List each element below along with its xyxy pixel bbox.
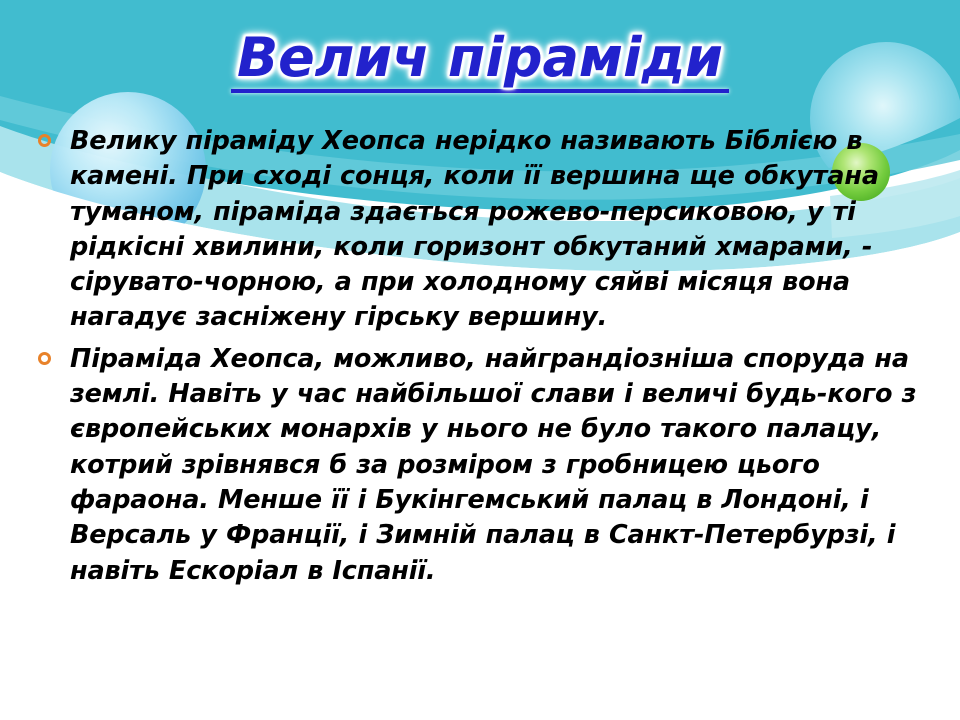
- list-item: Велику піраміду Хеопса нерідко називають…: [30, 124, 935, 336]
- list-item: Піраміда Хеопса, можливо, найграндіозніш…: [30, 342, 935, 589]
- presentation-slide: Велич піраміди Велику піраміду Хеопса не…: [0, 0, 960, 720]
- slide-body-content: Велику піраміду Хеопса нерідко називають…: [30, 124, 935, 595]
- slide-title-block: Велич піраміди: [0, 30, 960, 93]
- bullet-paragraph-text: Велику піраміду Хеопса нерідко називають…: [70, 124, 935, 336]
- ring-bullet-icon: [38, 352, 51, 365]
- ring-bullet-icon: [38, 134, 51, 147]
- bullet-paragraph-text: Піраміда Хеопса, можливо, найграндіозніш…: [70, 342, 935, 589]
- slide-title: Велич піраміди: [231, 30, 729, 93]
